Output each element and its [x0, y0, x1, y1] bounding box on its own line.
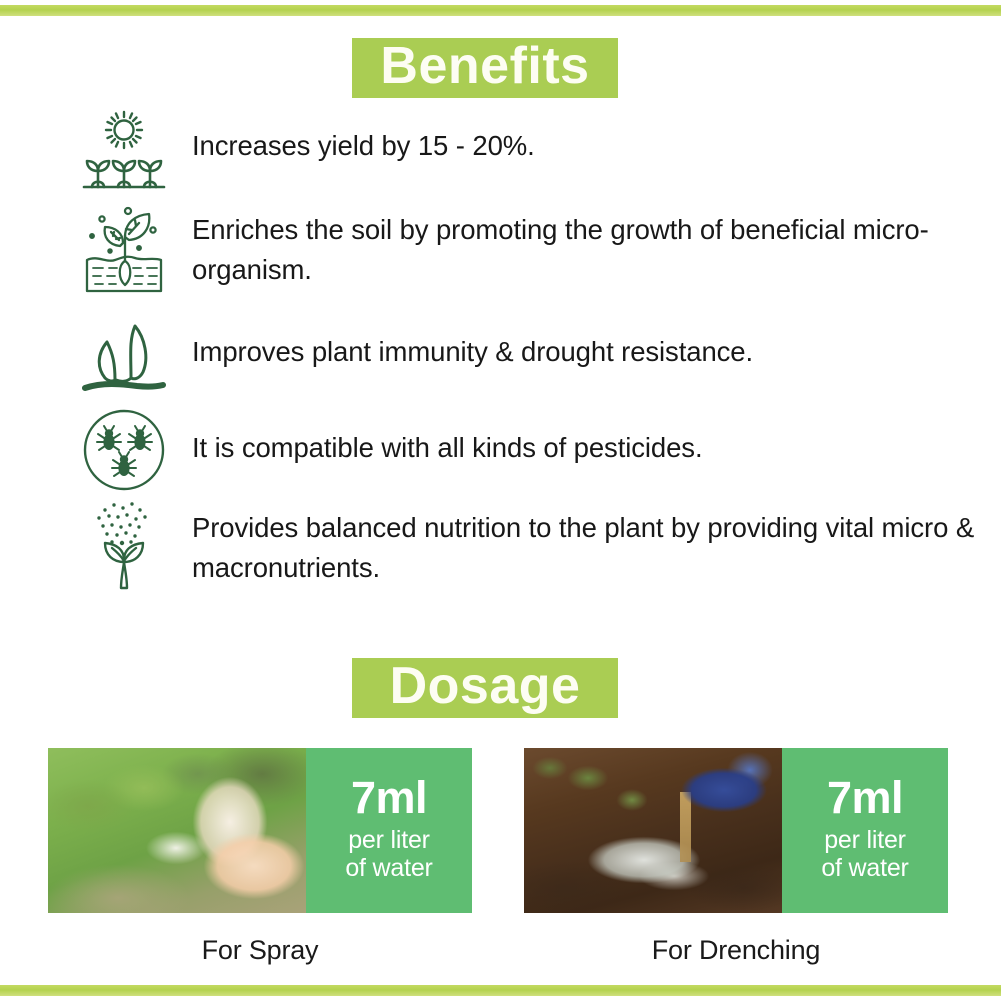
- benefit-text: Improves plant immunity & drought resist…: [172, 310, 1001, 372]
- benefit-text: It is compatible with all kinds of pesti…: [172, 404, 1001, 468]
- two-leaves-icon: [76, 310, 172, 402]
- product-infographic: Benefits: [0, 0, 1001, 1001]
- nutrient-sprinkle-plant-icon: [76, 500, 172, 592]
- benefit-item: Increases yield by 15 - 20%.: [0, 104, 1001, 204]
- benefit-text: Increases yield by 15 - 20%.: [172, 104, 1001, 166]
- benefit-item: It is compatible with all kinds of pesti…: [0, 404, 1001, 500]
- dosage-amount-panel: 7ml per liter of water: [782, 748, 948, 913]
- benefit-item: Enriches the soil by promoting the growt…: [0, 204, 1001, 310]
- plant-in-soil-icon: [76, 204, 172, 296]
- dosage-card-caption: For Spray: [48, 935, 472, 966]
- dosage-unit-line-2: of water: [345, 854, 432, 882]
- insects-in-circle-icon: [76, 404, 172, 496]
- sun-over-seedlings-icon: [76, 104, 172, 196]
- benefits-list: Increases yield by 15 - 20%.: [0, 104, 1001, 600]
- top-accent-bar: [0, 5, 1001, 16]
- dosage-card-caption: For Drenching: [524, 935, 948, 966]
- dosage-amount: 7ml: [827, 775, 903, 820]
- spray-bottle-photo: [48, 748, 306, 913]
- dosage-card: 7ml per liter of water For Spray: [48, 748, 472, 966]
- dosage-unit-line-1: per liter: [824, 826, 906, 854]
- dosage-amount: 7ml: [351, 775, 427, 820]
- dosage-cards: 7ml per liter of water For Spray 7ml per…: [0, 748, 1001, 978]
- benefit-item: Provides balanced nutrition to the plant…: [0, 500, 1001, 600]
- dosage-unit-line-2: of water: [821, 854, 908, 882]
- bottom-accent-bar: [0, 985, 1001, 996]
- benefits-heading-label: Benefits: [380, 40, 589, 96]
- benefit-text: Provides balanced nutrition to the plant…: [172, 500, 1001, 588]
- dosage-amount-panel: 7ml per liter of water: [306, 748, 472, 913]
- watering-can-soil-photo: [524, 748, 782, 913]
- dosage-heading-badge: Dosage: [352, 658, 618, 718]
- dosage-card-media: 7ml per liter of water: [48, 748, 472, 913]
- dosage-heading-label: Dosage: [390, 660, 581, 716]
- benefit-item: Improves plant immunity & drought resist…: [0, 310, 1001, 404]
- benefits-heading-badge: Benefits: [352, 38, 618, 98]
- benefit-text: Enriches the soil by promoting the growt…: [172, 204, 1001, 290]
- dosage-unit-line-1: per liter: [348, 826, 430, 854]
- dosage-card-media: 7ml per liter of water: [524, 748, 948, 913]
- dosage-card: 7ml per liter of water For Drenching: [524, 748, 948, 966]
